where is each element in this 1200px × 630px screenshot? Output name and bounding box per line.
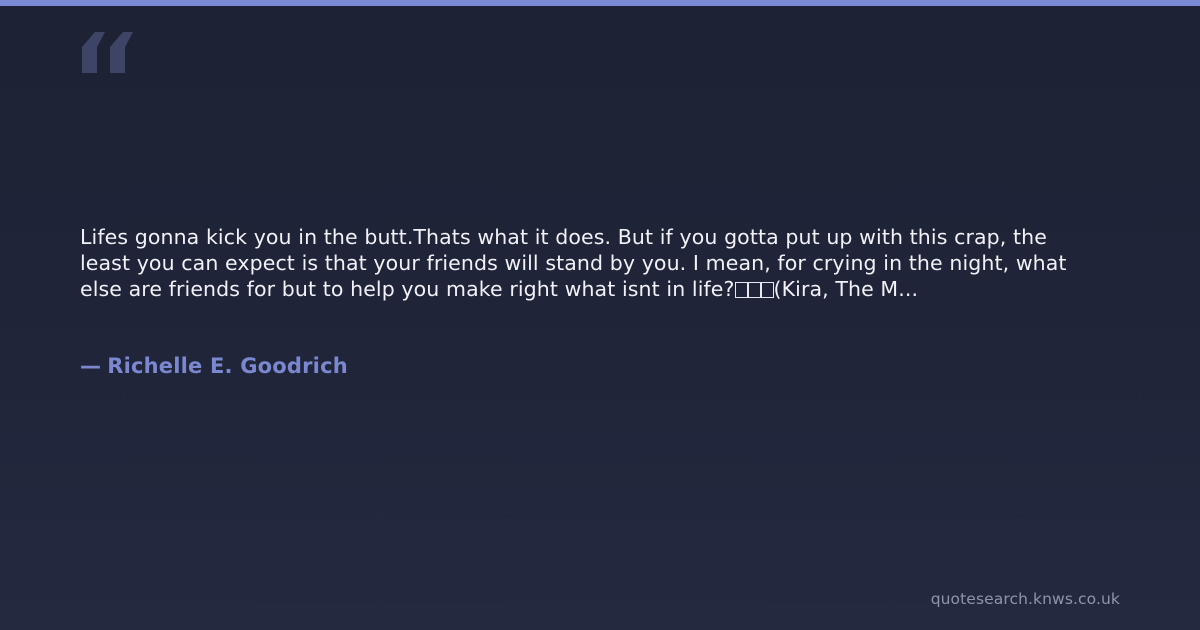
quote-text: Lifes gonna kick you in the butt.Thats w… [80, 224, 1100, 302]
unrendered-glyph-box [735, 282, 748, 298]
quote-text-part-1: Lifes gonna kick you in the butt.Thats w… [80, 225, 1067, 301]
author-dash: — [80, 354, 101, 378]
open-quote-icon [80, 30, 140, 82]
quote-text-part-2: (Kira, The M... [774, 277, 919, 301]
unrendered-glyph-group [735, 277, 774, 301]
quote-content: Lifes gonna kick you in the butt.Thats w… [80, 224, 1100, 302]
unrendered-glyph-box [748, 282, 761, 298]
quote-card: Lifes gonna kick you in the butt.Thats w… [0, 0, 1200, 630]
author-name: Richelle E. Goodrich [107, 354, 348, 378]
unrendered-glyph-box [761, 282, 774, 298]
top-accent-bar [0, 0, 1200, 6]
quote-author: —Richelle E. Goodrich [80, 354, 348, 378]
source-url: quotesearch.knws.co.uk [931, 590, 1120, 608]
